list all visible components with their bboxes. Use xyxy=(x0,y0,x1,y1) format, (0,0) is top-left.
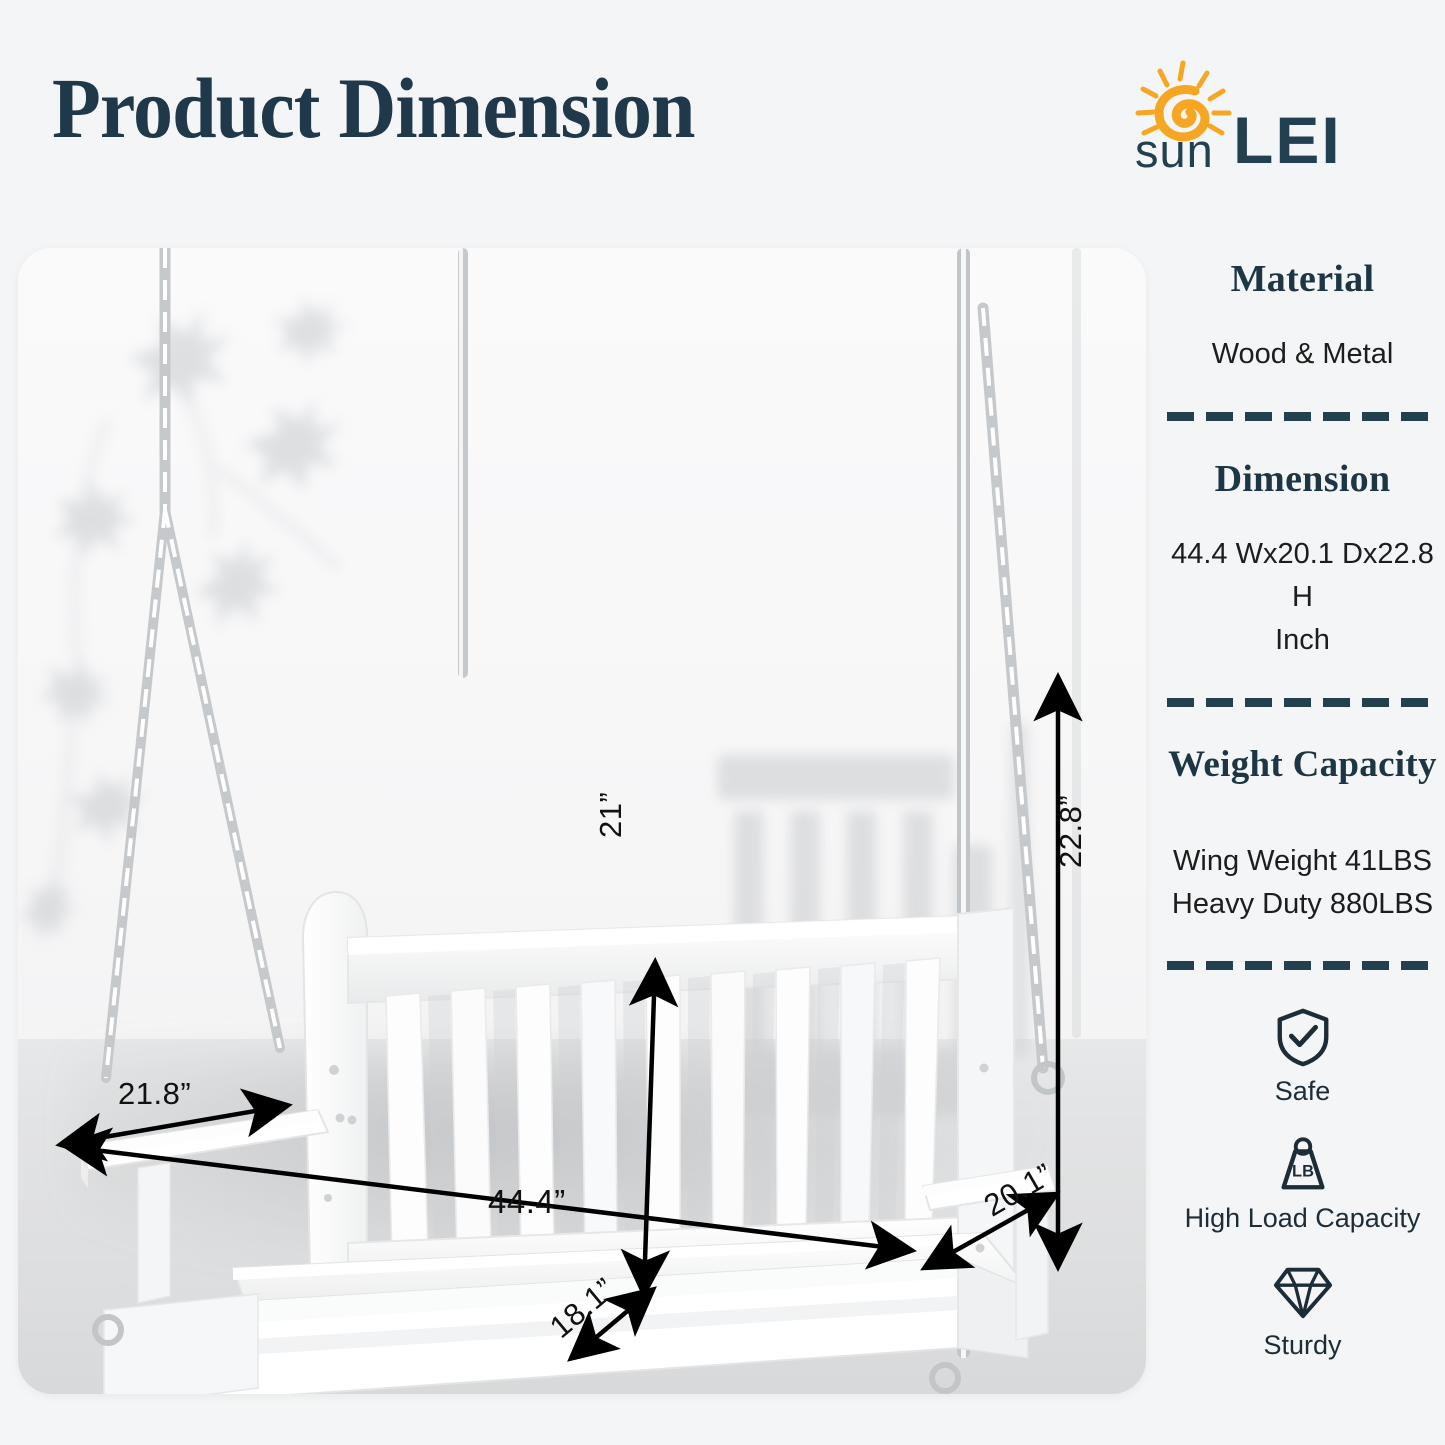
dim-label-44-4: 44.4” xyxy=(488,1183,566,1221)
shield-check-icon xyxy=(1272,1006,1334,1068)
feature-sturdy: Sturdy xyxy=(1160,1260,1445,1361)
material-section: Material Wood & Metal xyxy=(1160,257,1445,376)
weight-capacity-section: Weight Capacity Wing Weight 41LBS Heavy … xyxy=(1160,743,1445,926)
divider-3 xyxy=(1167,961,1439,970)
dimension-line-1: 44.4 Wx20.1 Dx22.8 H xyxy=(1160,533,1445,619)
dim-label-22-8: 22.8” xyxy=(1053,795,1089,868)
weight-capacity-heading: Weight Capacity xyxy=(1160,743,1445,786)
product-dimension-infographic: Product Dimension sun LEI xyxy=(0,0,1445,1445)
material-text: Wood & Metal xyxy=(1160,333,1445,376)
dimension-annotations xyxy=(18,248,1146,1394)
dim-label-21-8: 21.8” xyxy=(118,1076,191,1112)
divider-2 xyxy=(1167,698,1439,707)
divider-1 xyxy=(1167,412,1439,421)
sunlei-logo: sun LEI xyxy=(1125,55,1390,180)
feature-sturdy-label: Sturdy xyxy=(1263,1330,1341,1361)
feature-safe: Safe xyxy=(1160,1006,1445,1107)
info-sidebar: Material Wood & Metal Dimension 44.4 Wx2… xyxy=(1160,255,1445,1361)
dim-label-21: 21” xyxy=(593,792,629,838)
dim-arrow-21 xyxy=(644,966,655,1290)
page-title: Product Dimension xyxy=(52,58,695,158)
diamond-icon xyxy=(1272,1260,1334,1322)
weight-lb-icon: LB xyxy=(1272,1133,1334,1195)
logo-text-lei: LEI xyxy=(1233,103,1342,177)
dimension-line-2: Inch xyxy=(1160,619,1445,662)
dimension-section: Dimension 44.4 Wx20.1 Dx22.8 H Inch xyxy=(1160,457,1445,662)
product-photo: 21.8” 21” 18.1” 44.4” 20.1” 22.8” xyxy=(18,248,1146,1394)
weight-capacity-line-1: Wing Weight 41LBS xyxy=(1160,840,1445,883)
weight-capacity-line-2: Heavy Duty 880LBS xyxy=(1160,883,1445,926)
lb-badge-text: LB xyxy=(1292,1163,1314,1181)
feature-high-load-capacity: LB High Load Capacity xyxy=(1160,1133,1445,1234)
feature-high-load-capacity-label: High Load Capacity xyxy=(1185,1203,1421,1234)
dimension-heading: Dimension xyxy=(1160,457,1445,501)
feature-safe-label: Safe xyxy=(1275,1076,1331,1107)
material-heading: Material xyxy=(1160,257,1445,301)
logo-text-sun: sun xyxy=(1135,124,1214,177)
